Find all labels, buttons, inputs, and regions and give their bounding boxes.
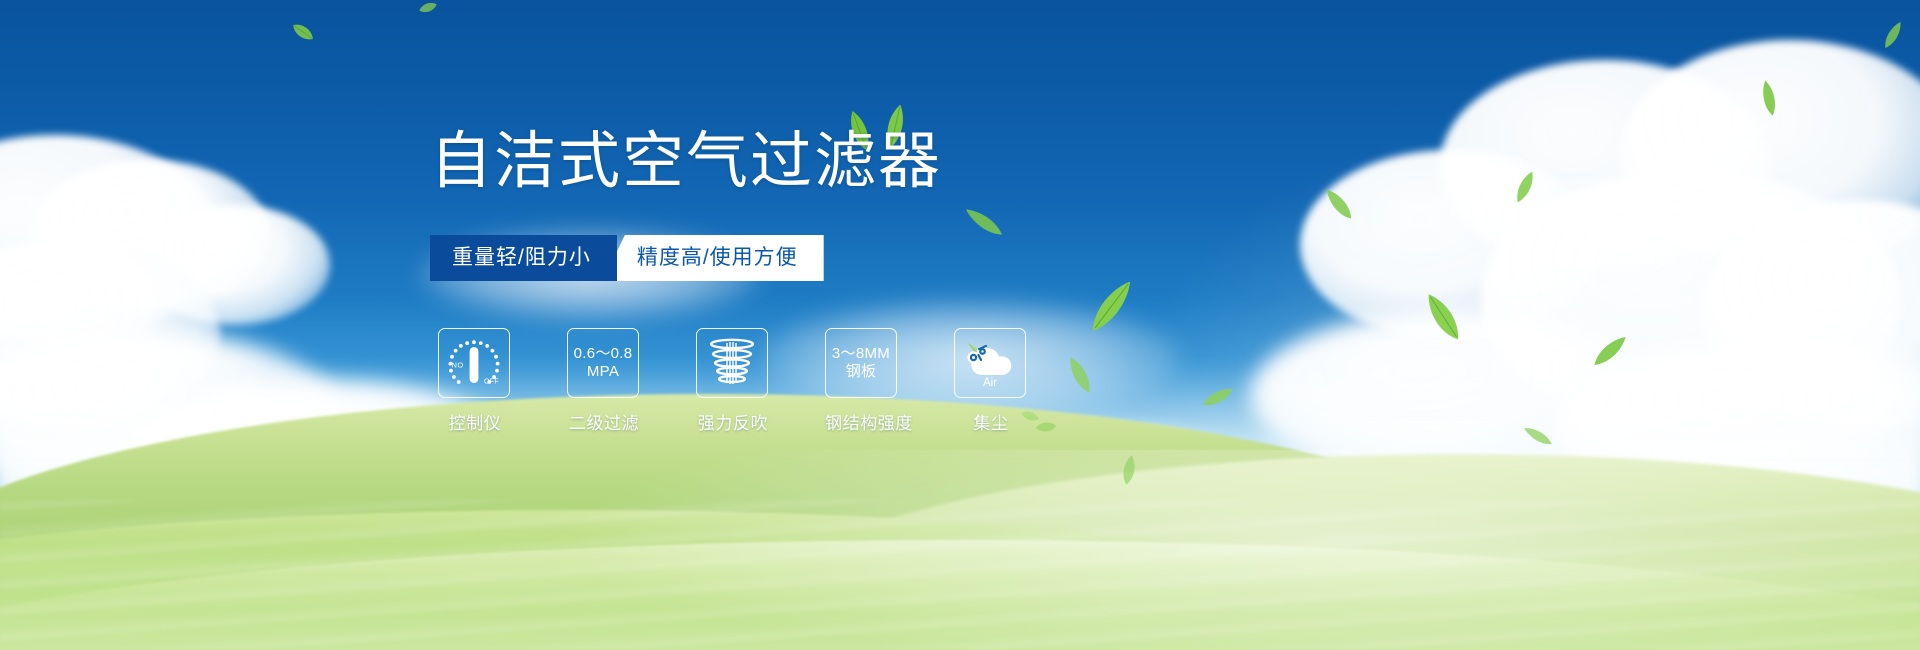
steel-thickness-line2: 钢板 [846, 363, 877, 381]
badge-precision-easyuse: 精度高/使用方便 [603, 235, 824, 281]
steel-thickness-line1: 3～8MM [832, 345, 890, 363]
feature-box-filter: 0.6～0.8 MPA [567, 328, 639, 398]
feature-label-dust: 集尘 [954, 409, 1028, 434]
feature-item-filter: 0.6～0.8 MPA 二级过滤 [567, 328, 641, 434]
air-cloud-label: Air [983, 377, 997, 389]
banner-content: 自洁式空气过滤器 重量轻/阻力小 精度高/使用方便 [0, 0, 1920, 650]
control-dial-icon: NO OFF [445, 336, 503, 390]
pressure-value-line1: 0.6～0.8 [574, 345, 633, 363]
feature-item-blowback: 强力反吹 [696, 328, 770, 434]
feature-box-dust: Air [954, 328, 1026, 398]
feature-item-control: NO OFF 控制仪 [438, 328, 512, 434]
page-title: 自洁式空气过滤器 [430, 131, 942, 193]
coil-blowback-icon [706, 336, 758, 390]
feature-label-control: 控制仪 [438, 409, 512, 434]
badge-lightweight-lowresistance: 重量轻/阻力小 [430, 235, 617, 281]
feature-box-blowback [696, 328, 768, 398]
svg-text:OFF: OFF [484, 379, 499, 386]
pressure-value-line2: MPA [587, 363, 619, 381]
feature-label-blowback: 强力反吹 [696, 409, 770, 434]
feature-box-steel: 3～8MM 钢板 [825, 328, 897, 398]
air-cloud-icon: Air [960, 337, 1020, 389]
feature-box-control: NO OFF [438, 328, 510, 398]
feature-label-filter: 二级过滤 [567, 409, 641, 434]
feature-label-steel: 钢结构强度 [825, 409, 899, 434]
tagline-badges: 重量轻/阻力小 精度高/使用方便 [430, 235, 824, 281]
feature-item-steel: 3～8MM 钢板 钢结构强度 [825, 328, 899, 434]
feature-item-dust: Air 集尘 [954, 328, 1028, 434]
feature-list: NO OFF 控制仪 0.6～0.8 MPA 二级过滤 [438, 328, 1028, 434]
hero-banner: 自洁式空气过滤器 重量轻/阻力小 精度高/使用方便 [0, 0, 1920, 650]
svg-text:NO: NO [452, 361, 464, 370]
